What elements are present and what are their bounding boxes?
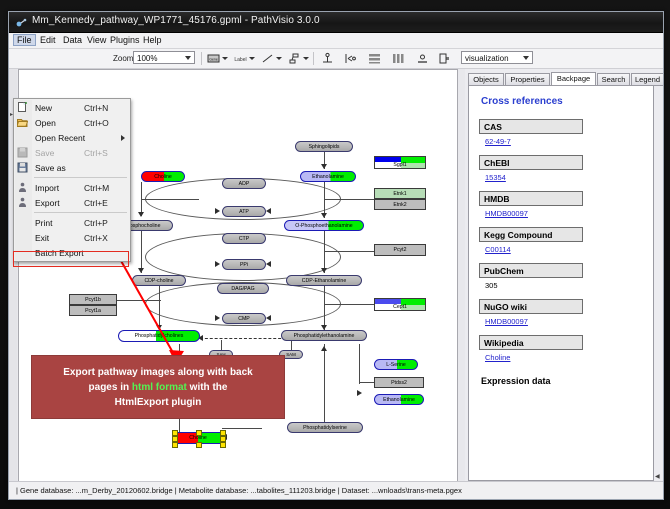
connector-1 (141, 199, 199, 200)
visualization-combo[interactable]: visualization (461, 51, 533, 64)
toolbar: Zoom: 100% Gene Label (9, 49, 663, 69)
node-label: CDP-Ethanolamine (302, 278, 346, 284)
batch-export-highlight (13, 251, 129, 267)
side-panel-tabs: Objects Properties Backpage Search Legen… (468, 72, 662, 86)
arrow-left-atp (266, 208, 271, 214)
status-text: | Gene database: ...m_Derby_20120602.bri… (16, 486, 462, 495)
node-pcyt1b[interactable]: Pcyt1b (69, 294, 117, 305)
node-label: Sphingolipids (309, 144, 340, 150)
node-label: CTP (239, 236, 249, 242)
menu-item-label: New (35, 103, 52, 113)
arrow-up-1 (321, 346, 327, 351)
node-label: Cept1 (375, 304, 425, 310)
menu-edit[interactable]: Edit (36, 34, 60, 46)
annotation-line3: HtmlExport plugin (115, 397, 202, 408)
backpage-section-pubchem: PubChem (479, 263, 583, 278)
import-icon (17, 182, 28, 193)
annotation-line2-post: with the (187, 382, 228, 393)
screenshot-root: Mm_Kennedy_pathway_WP1771_45176.gpml - P… (0, 0, 670, 509)
node-phosphatidylserine[interactable]: Phosphatidylserine (287, 422, 363, 433)
align-top-icon[interactable] (320, 51, 335, 66)
arrow-right-etn-bottom (357, 390, 362, 396)
annotation-highlight: html format (132, 382, 187, 393)
node-label: Etnk2 (393, 202, 406, 208)
backpage-link-nugo[interactable]: HMDB00097 (485, 317, 643, 326)
backpage-section-nugo: NuGO wiki (479, 299, 583, 314)
node-cmp[interactable]: CMP (222, 313, 266, 324)
node-label: Choline (154, 174, 172, 180)
backpage-section-hmdb: HMDB (479, 191, 583, 206)
arrow-down-5 (321, 213, 327, 218)
menu-item-shortcut: Ctrl+M (84, 183, 109, 193)
menu-file[interactable]: File (13, 34, 36, 46)
arrow-left-ppi (266, 261, 271, 267)
menu-item-shortcut: Ctrl+E (84, 198, 108, 208)
pathvisio-app-icon (15, 16, 27, 28)
node-sphingolipids[interactable]: Sphingolipids (295, 141, 353, 152)
label-dropdown-caret[interactable] (249, 57, 255, 60)
menu-item-import[interactable]: Import Ctrl+M (14, 180, 130, 195)
node-label: L-Serine (386, 362, 406, 368)
node-atp[interactable]: ATP (222, 206, 266, 217)
zoom-combo[interactable]: 100% (133, 51, 195, 64)
line-dropdown-caret[interactable] (276, 57, 282, 60)
node-cdp-ethanolamine[interactable]: CDP-Ethanolamine (286, 275, 362, 286)
menu-item-label: Open (35, 118, 56, 128)
menu-item-shortcut: Ctrl+O (84, 118, 109, 128)
node-label: Pcyt2 (394, 247, 407, 253)
menu-item-label: Export (35, 198, 60, 208)
connector-3 (324, 251, 376, 252)
arrow-down-6 (321, 268, 327, 273)
distribute-icon[interactable] (391, 51, 406, 66)
backpage-section-kegg: Kegg Compound (479, 227, 583, 242)
node-label: SAM (286, 352, 296, 357)
annotation-arrow-icon (114, 250, 204, 368)
node-adp[interactable]: ADP (222, 178, 266, 189)
node-label: ADP (239, 181, 250, 187)
backpage-heading: Cross references (481, 96, 643, 107)
node-pcyt2[interactable]: Pcyt2 (374, 244, 426, 256)
node-etnk2[interactable]: Etnk2 (374, 199, 426, 210)
arrow-right-atp (215, 208, 220, 214)
edge-ptdetn-ptdserine (324, 344, 325, 422)
chevron-down-icon-2 (523, 56, 529, 60)
save-disk-icon (17, 147, 28, 158)
node-choline-top[interactable]: Choline (141, 171, 185, 182)
menu-item-open-recent[interactable]: Open Recent (14, 130, 130, 145)
node-o-phosphoethanolamine[interactable]: O-Phosphoethanolamine (284, 220, 364, 231)
annotation-text: Export pathway images along with back pa… (57, 365, 259, 410)
menu-item-save[interactable]: Save Ctrl+S (14, 145, 130, 160)
datanode-dropdown-caret[interactable] (222, 57, 228, 60)
save-as-disk-icon (17, 162, 28, 173)
interaction-icon[interactable] (287, 51, 302, 66)
node-ethanolamine-bottom[interactable]: Ethanolamine (374, 394, 424, 405)
common-width-icon[interactable] (415, 51, 430, 66)
connector-sam (291, 340, 292, 350)
menu-item-label: Print (35, 218, 52, 228)
selection-handle-sw[interactable] (172, 442, 178, 448)
panel-resize-handle[interactable]: ◀ (655, 473, 662, 481)
node-etnk1[interactable]: Etnk1 (374, 188, 426, 199)
file-menu-dropdown[interactable]: New Ctrl+N Open Ctrl+O Open Recent (13, 98, 131, 262)
selection-handle-n[interactable] (196, 430, 202, 436)
node-label: ATP (239, 209, 249, 215)
backpage-section-cas: CAS (479, 119, 583, 134)
chevron-down-icon (185, 56, 191, 60)
menu-item-open[interactable]: Open Ctrl+O (14, 115, 130, 130)
node-ctp[interactable]: CTP (222, 233, 266, 244)
menu-item-label: Save as (35, 163, 66, 173)
arrow-right-cmp (215, 315, 220, 321)
menu-help[interactable]: Help (139, 34, 166, 46)
annotation-line2-pre: pages in (89, 382, 132, 393)
node-pcyt1a[interactable]: Pcyt1a (69, 305, 117, 316)
edge-ophospho-cdpetn (324, 231, 325, 273)
menu-item-print[interactable]: Print Ctrl+P (14, 215, 130, 230)
bring-front-icon[interactable] (437, 51, 452, 66)
menu-item-save-as[interactable]: Save as (14, 160, 130, 175)
toolbar-separator-2 (313, 52, 314, 65)
toolbar-separator (201, 52, 202, 65)
backpage-link-cas[interactable]: 62-49-7 (485, 137, 643, 146)
backpage-link-chebi[interactable]: 15354 (485, 173, 643, 182)
svg-text:Label: Label (234, 57, 246, 63)
node-sgpl1[interactable]: Sgpl1 (374, 156, 426, 169)
node-phosphatidylethanolamine[interactable]: Phosphatidylethanolamine (281, 330, 367, 341)
node-label: Etnk1 (393, 191, 406, 197)
annotation-line1: Export pathway images along with back (63, 367, 253, 378)
node-cept1[interactable]: Cept1 (374, 298, 426, 311)
menu-item-exit[interactable]: Exit Ctrl+X (14, 230, 130, 245)
selection-handle-se[interactable] (220, 442, 226, 448)
menu-item-label: Open Recent (35, 133, 85, 143)
node-label: Ptdss2 (391, 380, 407, 386)
export-icon (17, 197, 28, 208)
node-l-serine[interactable]: L-Serine (374, 359, 418, 370)
submenu-arrow-icon (121, 135, 125, 141)
backpage-content: Cross references CAS 62-49-7 ChEBI 15354… (469, 86, 653, 394)
selection-handle-s[interactable] (196, 442, 202, 448)
status-bar: | Gene database: ...m_Derby_20120602.bri… (9, 481, 663, 499)
selection-handle-e[interactable] (220, 436, 226, 442)
node-label: Ethanolamine (383, 397, 415, 403)
pathvisio-window: Mm_Kennedy_pathway_WP1771_45176.gpml - P… (8, 11, 664, 500)
backpage-section-chebi: ChEBI (479, 155, 583, 170)
connector-8 (359, 344, 360, 384)
align-center-icon[interactable] (343, 51, 358, 66)
svg-text:Gene: Gene (209, 58, 218, 62)
new-document-icon (17, 102, 28, 113)
connector-5 (324, 304, 376, 305)
node-label: Pcyt1b (85, 297, 101, 303)
menu-item-export[interactable]: Export Ctrl+E (14, 195, 130, 210)
connector-bottom (222, 428, 262, 429)
backpage-panel[interactable]: Cross references CAS 62-49-7 ChEBI 15354… (468, 85, 654, 481)
menu-item-shortcut: Ctrl+X (84, 233, 108, 243)
menu-item-label: Exit (35, 233, 49, 243)
arrow-down-1 (138, 212, 144, 217)
menu-item-new[interactable]: New Ctrl+N (14, 100, 130, 115)
backpage-link-wikipedia[interactable]: Choline (485, 353, 643, 362)
node-label: Ethanolamine (312, 174, 344, 180)
node-ppi[interactable]: PPi (222, 259, 266, 270)
interaction-dropdown-caret[interactable] (303, 57, 309, 60)
node-label: Pcyt1a (85, 308, 101, 314)
stack-icon[interactable] (367, 51, 382, 66)
arrow-right-ppi (215, 261, 220, 267)
backpage-link-hmdb[interactable]: HMDB00097 (485, 209, 643, 218)
backpage-value-pubchem: 305 (485, 281, 643, 290)
node-label: Phosphatidylserine (303, 425, 347, 431)
side-panel: Objects Properties Backpage Search Legen… (465, 69, 663, 499)
line-icon[interactable] (260, 51, 275, 66)
connector-sah (221, 340, 222, 350)
arrow-left-cmp (266, 315, 271, 321)
node-label: Phosphatidylethanolamine (294, 333, 355, 339)
arrow-down-4 (321, 164, 327, 169)
node-label: DAG/PAG (231, 286, 254, 292)
backpage-link-kegg[interactable]: C00114 (485, 245, 643, 254)
menu-item-label: Import (35, 183, 59, 193)
connector-2 (324, 199, 376, 200)
datanode-icon[interactable]: Gene (206, 51, 221, 66)
node-label: CMP (238, 316, 250, 322)
menu-item-label: Save (35, 148, 54, 158)
menu-plugins[interactable]: Plugins (106, 34, 144, 46)
menu-separator-1 (34, 177, 127, 178)
folder-open-icon (17, 117, 28, 128)
title-bar: Mm_Kennedy_pathway_WP1771_45176.gpml - P… (9, 12, 663, 33)
node-label: PPi (240, 262, 248, 268)
visualization-value: visualization (465, 54, 509, 63)
backpage-expression-data-heading: Expression data (481, 376, 643, 386)
selection-handle-w[interactable] (172, 436, 178, 442)
edge-methylation-dashed (200, 338, 286, 339)
annotation-callout: Export pathway images along with back pa… (31, 355, 285, 419)
menu-data[interactable]: Data (59, 34, 86, 46)
menu-item-shortcut: Ctrl+N (84, 103, 108, 113)
menu-item-shortcut: Ctrl+P (84, 218, 108, 228)
menu-separator-2 (34, 212, 127, 213)
node-label: Choline (189, 435, 207, 441)
node-label: O-Phosphoethanolamine (295, 223, 352, 229)
menu-item-shortcut: Ctrl+S (84, 148, 108, 158)
node-label: Sgpl1 (375, 162, 425, 168)
node-ptdss2[interactable]: Ptdss2 (374, 377, 424, 388)
menu-bar: File Edit Data View Plugins Help (9, 33, 663, 49)
label-icon[interactable]: Label (233, 51, 248, 66)
node-dag-pag[interactable]: DAG/PAG (217, 283, 269, 294)
selection-handle-nw[interactable] (172, 430, 178, 436)
tab-backpage[interactable]: Backpage (551, 72, 596, 86)
node-ethanolamine-top[interactable]: Ethanolamine (300, 171, 356, 182)
edge-cdpetn-ptdetn (324, 286, 325, 330)
backpage-section-wikipedia: Wikipedia (479, 335, 583, 350)
window-title: Mm_Kennedy_pathway_WP1771_45176.gpml - P… (32, 15, 320, 26)
main-area: ▸ (9, 69, 663, 499)
zoom-value: 100% (137, 54, 157, 63)
selection-handle-ne[interactable] (220, 430, 226, 436)
